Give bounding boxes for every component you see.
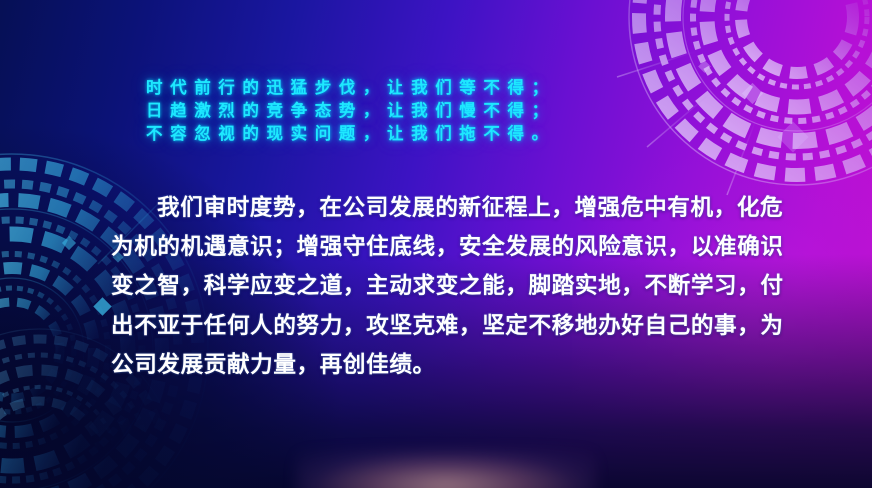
heading-line-3: 不容忽视的现实问题，让我们拖不得。 [146, 122, 556, 145]
body-line-3: 变之智，科学应变之道，主动求变之能，脚踏实地，不断学习，付 [111, 267, 773, 306]
heading-line-1: 时代前行的迅猛步伐，让我们等不得； [146, 76, 556, 99]
heading-line-2: 日趋激烈的竞争态势，让我们慢不得； [146, 99, 556, 122]
slide-canvas: 时代前行的迅猛步伐，让我们等不得； 日趋激烈的竞争态势，让我们慢不得； 不容忽视… [0, 0, 872, 488]
body-line-4: 出不亚于任何人的努力，攻坚克难，坚定不移地办好自己的事，为 [111, 307, 773, 346]
body-line-1-text: 我们审时度势，在公司发展的新征程上，增强危中有机，化危 [157, 195, 783, 221]
body-line-5: 公司发展贡献力量，再创佳绩。 [111, 346, 773, 385]
slide-heading: 时代前行的迅猛步伐，让我们等不得； 日趋激烈的竞争态势，让我们慢不得； 不容忽视… [146, 76, 556, 146]
slide-body-paragraph: 我们审时度势，在公司发展的新征程上，增强危中有机，化危 为机的机遇意识；增强守住… [111, 189, 773, 385]
body-line-1: 我们审时度势，在公司发展的新征程上，增强危中有机，化危 [111, 189, 773, 228]
body-line-2: 为机的机遇意识；增强守住底线，安全发展的风险意识，以准确识 [111, 228, 773, 267]
background-horizon-glow [296, 450, 596, 488]
